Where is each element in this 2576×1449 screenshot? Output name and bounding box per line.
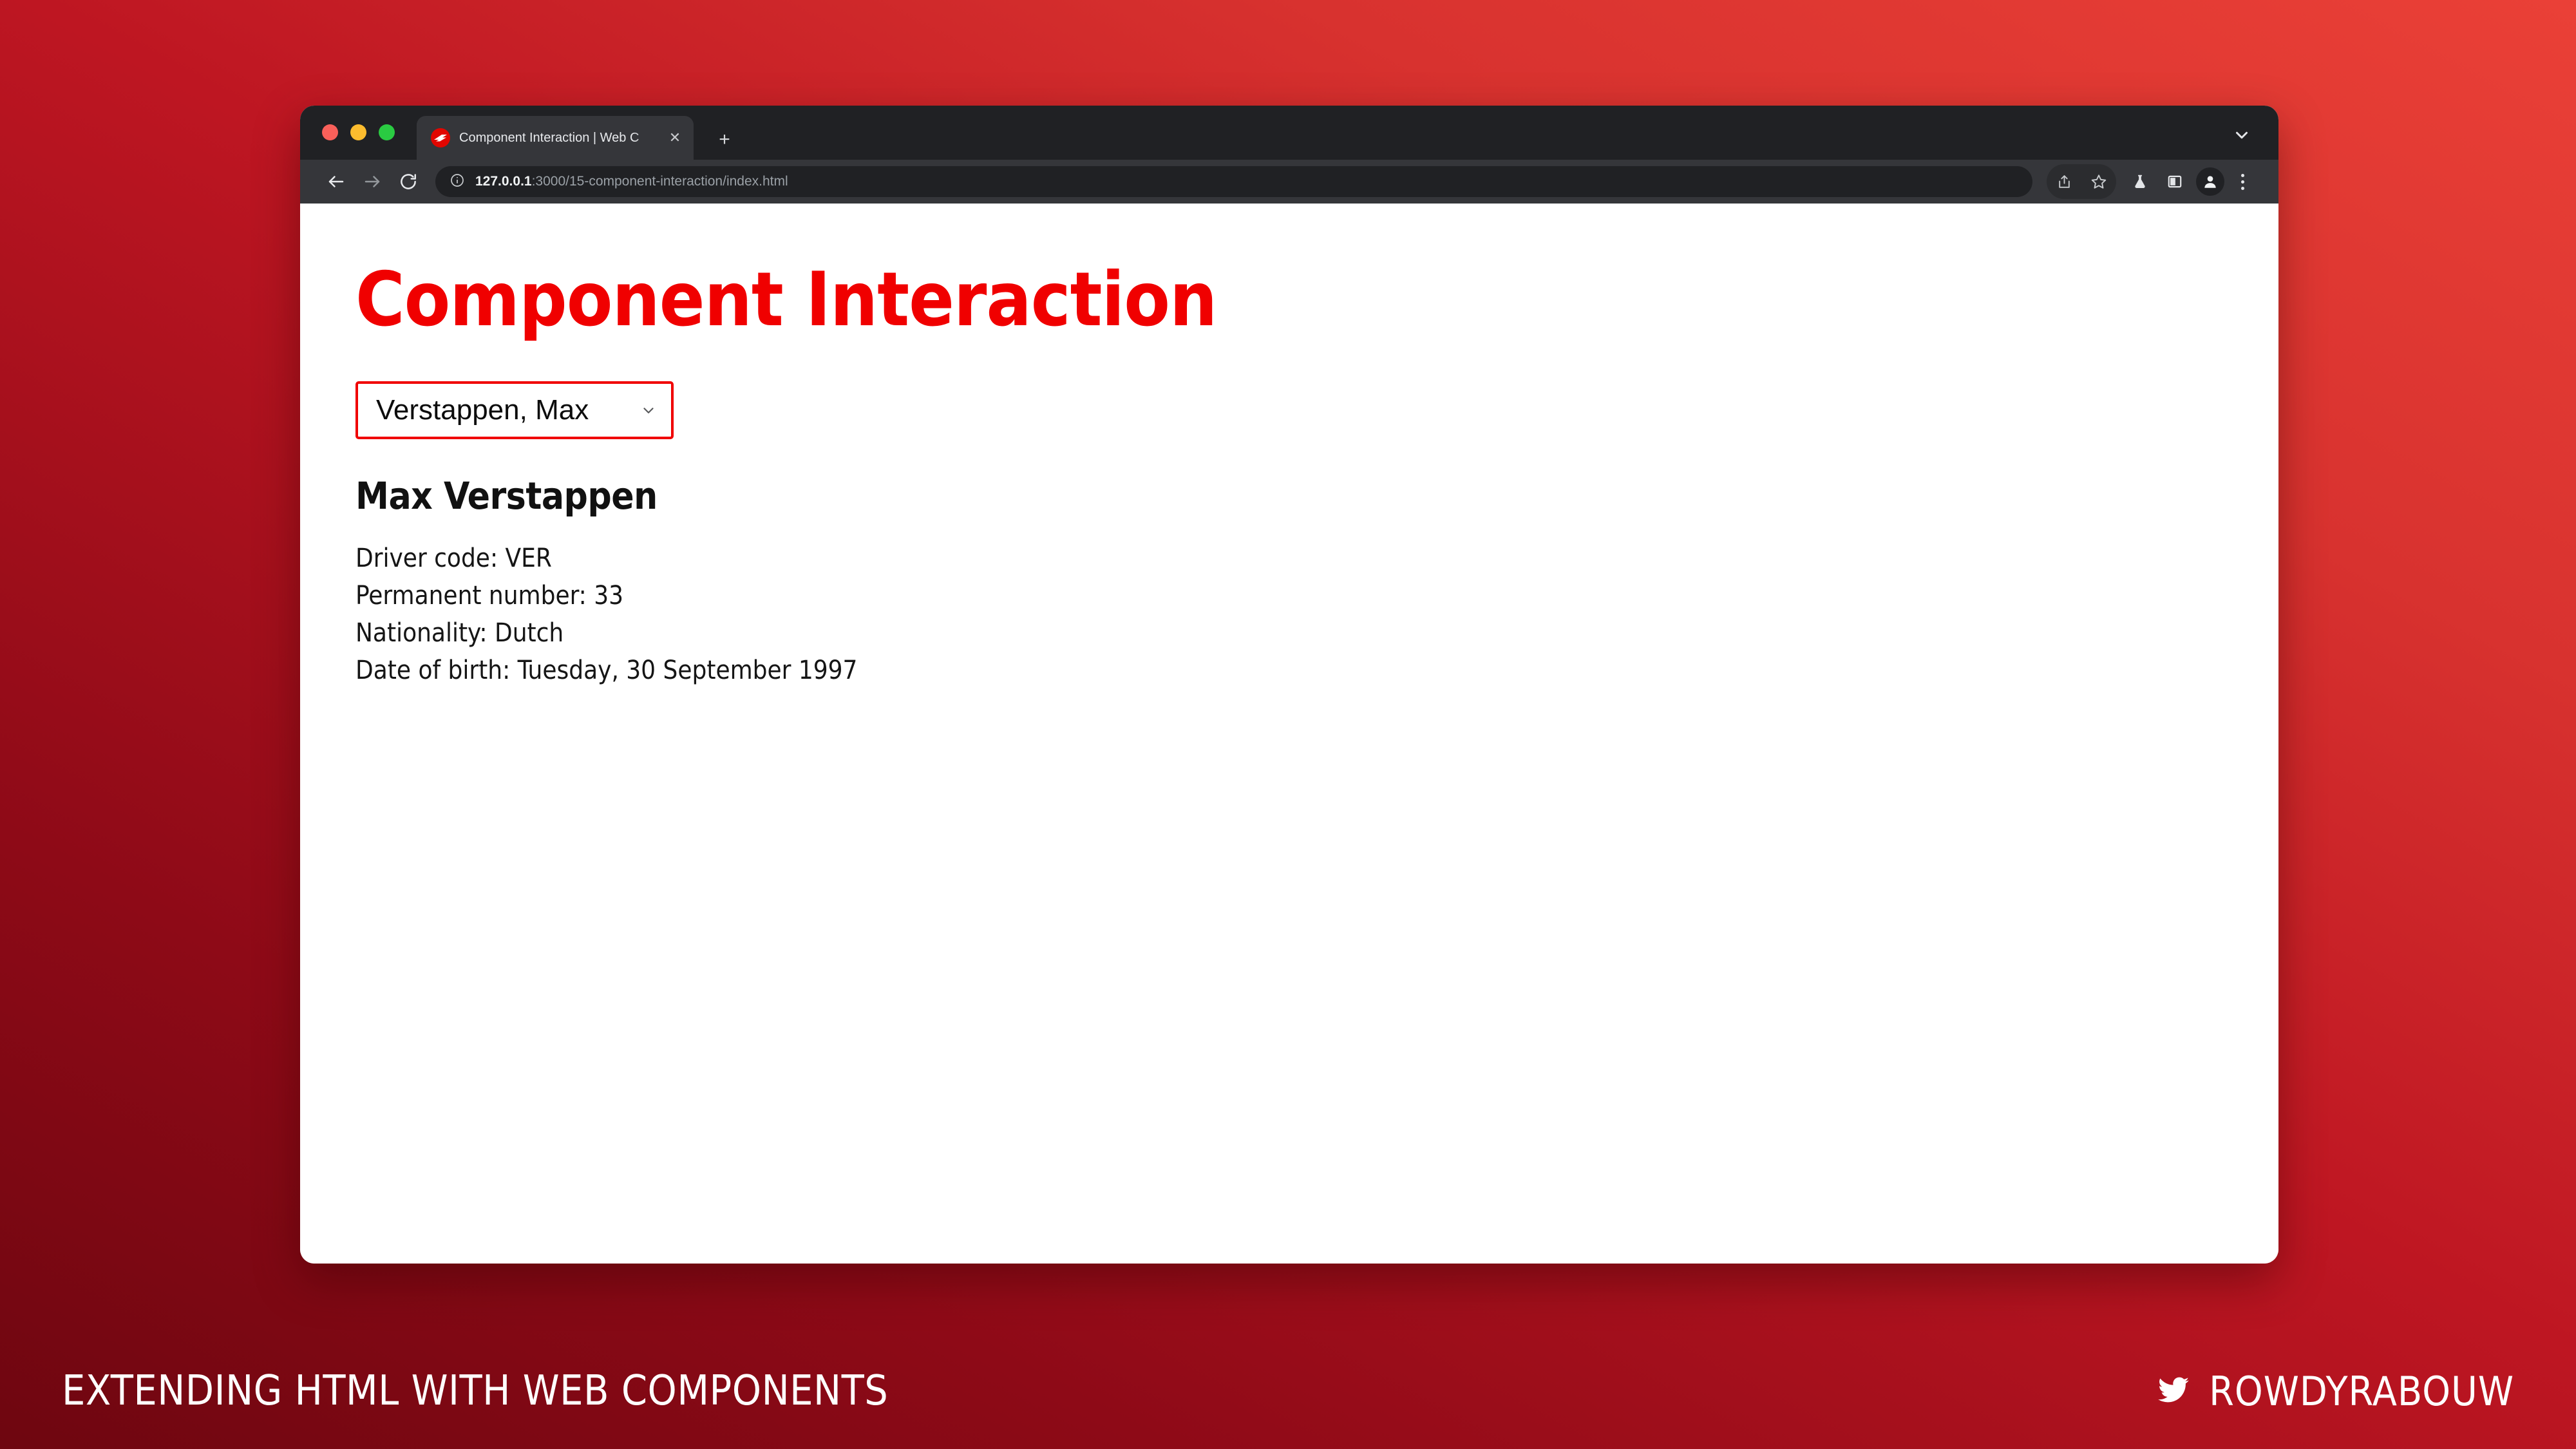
share-icon[interactable] <box>2047 164 2081 199</box>
profile-avatar-icon[interactable] <box>2196 167 2224 196</box>
site-information-icon[interactable] <box>450 173 465 191</box>
page-viewport: Component Interaction Verstappen, Max Ma… <box>300 204 2278 1264</box>
maximize-window-button[interactable] <box>379 124 395 140</box>
permanent-number-line: Permanent number: 33 <box>355 577 2278 614</box>
close-window-button[interactable] <box>322 124 338 140</box>
side-panel-icon[interactable] <box>2157 164 2192 199</box>
toolbar-actions <box>2047 164 2257 199</box>
twitter-bird-icon <box>2154 1374 2193 1408</box>
chevron-down-icon <box>640 402 657 419</box>
tab-title: Component Interaction | Web C <box>459 131 658 146</box>
url-text: 127.0.0.1:3000/15-component-interaction/… <box>475 174 788 189</box>
minimize-window-button[interactable] <box>350 124 366 140</box>
tab-strip: Component Interaction | Web C ✕ + <box>300 106 2278 160</box>
f1-logo-favicon <box>431 128 450 147</box>
browser-toolbar: 127.0.0.1:3000/15-component-interaction/… <box>300 160 2278 204</box>
bookmark-star-icon[interactable] <box>2081 164 2116 199</box>
new-tab-button[interactable]: + <box>712 130 737 149</box>
url-host: 127.0.0.1 <box>475 174 532 189</box>
reload-button[interactable] <box>390 164 426 200</box>
browser-tab[interactable]: Component Interaction | Web C ✕ <box>417 116 694 160</box>
close-icon[interactable]: ✕ <box>667 131 683 145</box>
driver-name: Max Verstappen <box>355 474 2278 518</box>
forward-button[interactable] <box>354 164 390 200</box>
labs-beaker-icon[interactable] <box>2123 164 2157 199</box>
share-bookmark-group <box>2047 164 2116 199</box>
driver-select[interactable]: Verstappen, Max <box>355 381 674 439</box>
footer-handle: ROWDYRABOUW <box>2154 1368 2514 1415</box>
driver-code-line: Driver code: VER <box>355 540 2278 577</box>
window-controls <box>322 106 395 160</box>
browser-window: Component Interaction | Web C ✕ + <box>300 106 2278 1264</box>
three-dot-menu-icon[interactable] <box>2228 164 2257 199</box>
handle-text: ROWDYRABOUW <box>2209 1368 2514 1415</box>
page-title: Component Interaction <box>355 263 2278 337</box>
driver-details: Driver code: VER Permanent number: 33 Na… <box>355 540 2278 689</box>
nationality-line: Nationality: Dutch <box>355 614 2278 652</box>
date-of-birth-line: Date of birth: Tuesday, 30 September 199… <box>355 652 2278 689</box>
chevron-down-icon[interactable] <box>2232 126 2251 148</box>
back-button[interactable] <box>318 164 354 200</box>
footer-title: EXTENDING HTML WITH WEB COMPONENTS <box>62 1367 888 1415</box>
address-bar[interactable]: 127.0.0.1:3000/15-component-interaction/… <box>435 166 2032 197</box>
slide-footer: EXTENDING HTML WITH WEB COMPONENTS ROWDY… <box>0 1333 2576 1449</box>
driver-select-value: Verstappen, Max <box>376 394 589 426</box>
url-path: :3000/15-component-interaction/index.htm… <box>532 174 788 189</box>
